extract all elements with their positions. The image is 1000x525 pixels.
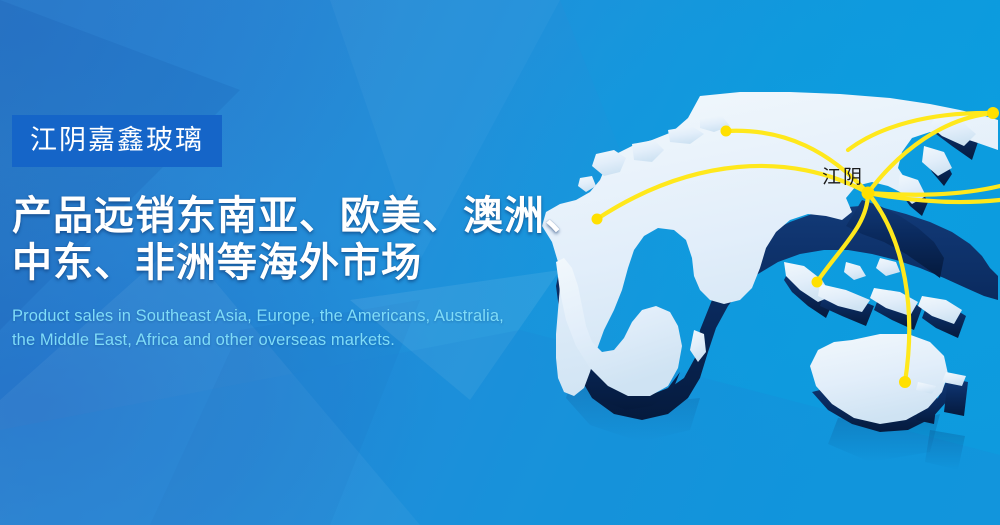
headline-line-2: 中东、非洲等海外市场 [12, 240, 572, 287]
facet-shape [560, 0, 1000, 200]
headline: 产品远销东南亚、欧美、澳洲、 中东、非洲等海外市场 [12, 193, 572, 287]
map-label-jiangyin: 江阴 [822, 168, 864, 187]
subheadline: Product sales in Southeast Asia, Europe,… [12, 305, 572, 353]
subheadline-line-2: the Middle East, Africa and other overse… [12, 329, 572, 353]
company-badge: 江阴嘉鑫玻璃 [12, 115, 222, 167]
banner-copy: 江阴嘉鑫玻璃 产品远销东南亚、欧美、澳洲、 中东、非洲等海外市场 Product… [12, 115, 572, 353]
subheadline-line-1: Product sales in Southeast Asia, Europe,… [12, 305, 572, 329]
headline-line-1: 产品远销东南亚、欧美、澳洲、 [12, 193, 572, 240]
promo-banner: 江阴 江阴嘉鑫玻璃 产品远销东南亚、欧美、澳洲、 中东、非洲等海外市场 Prod… [0, 0, 1000, 525]
